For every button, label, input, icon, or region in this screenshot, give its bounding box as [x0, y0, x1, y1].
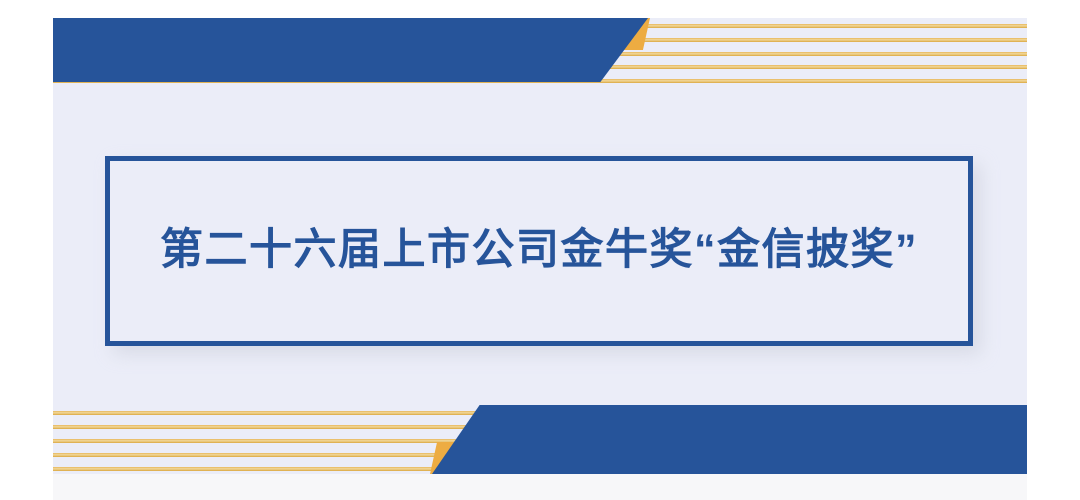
- top-rule-4: [53, 65, 1027, 69]
- top-rule-2: [53, 38, 1027, 42]
- page-title: 第二十六届上市公司金牛奖“金信披奖”: [160, 225, 918, 277]
- top-orange-parallelogram: [448, 18, 650, 50]
- top-rule-3: [53, 52, 1027, 56]
- top-line-backdrop: [53, 18, 1027, 82]
- title-card: 第二十六届上市公司金牛奖“金信披奖”: [105, 156, 973, 346]
- top-rule-1: [53, 24, 1027, 28]
- slide-canvas: 第二十六届上市公司金牛奖“金信披奖”: [0, 0, 1080, 500]
- page-base-strip: [53, 474, 1027, 500]
- top-blue-parallelogram: [53, 18, 648, 82]
